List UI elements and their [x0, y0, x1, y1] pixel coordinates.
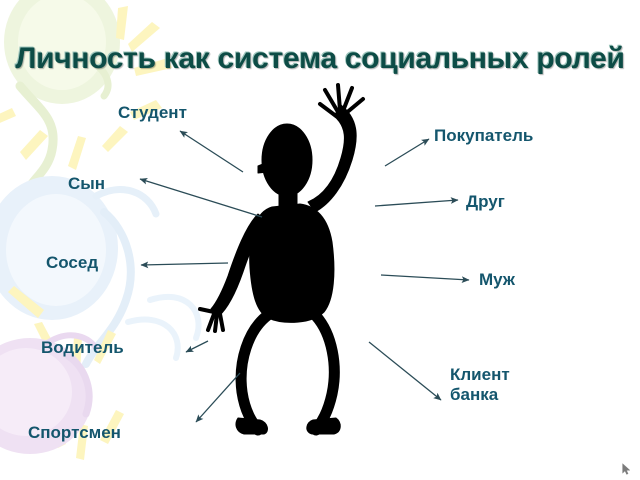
role-label-husband: Муж: [479, 270, 515, 290]
arrow-neighbor: [141, 263, 228, 265]
role-label-sportsman: Спортсмен: [28, 423, 121, 443]
arrow-student: [180, 131, 243, 172]
arrow-husband: [381, 275, 469, 280]
arrow-driver: [186, 341, 208, 352]
role-label-son: Сын: [68, 174, 105, 194]
role-label-buyer: Покупатель: [434, 126, 533, 146]
arrow-friend: [375, 200, 458, 206]
role-label-driver: Водитель: [41, 338, 124, 358]
arrow-sportsman: [196, 373, 240, 422]
mouse-cursor-icon: [622, 463, 632, 475]
arrow-buyer: [385, 139, 429, 166]
role-label-bankclient: Клиент банка: [450, 365, 540, 404]
role-label-student: Студент: [118, 103, 187, 123]
arrow-connectors: [0, 0, 640, 480]
role-label-friend: Друг: [466, 192, 505, 212]
role-label-neighbor: Сосед: [46, 253, 98, 273]
arrow-son: [140, 179, 262, 217]
slide-canvas: Личность как система социальных ролей: [0, 0, 640, 480]
arrow-bankclient: [369, 342, 441, 400]
